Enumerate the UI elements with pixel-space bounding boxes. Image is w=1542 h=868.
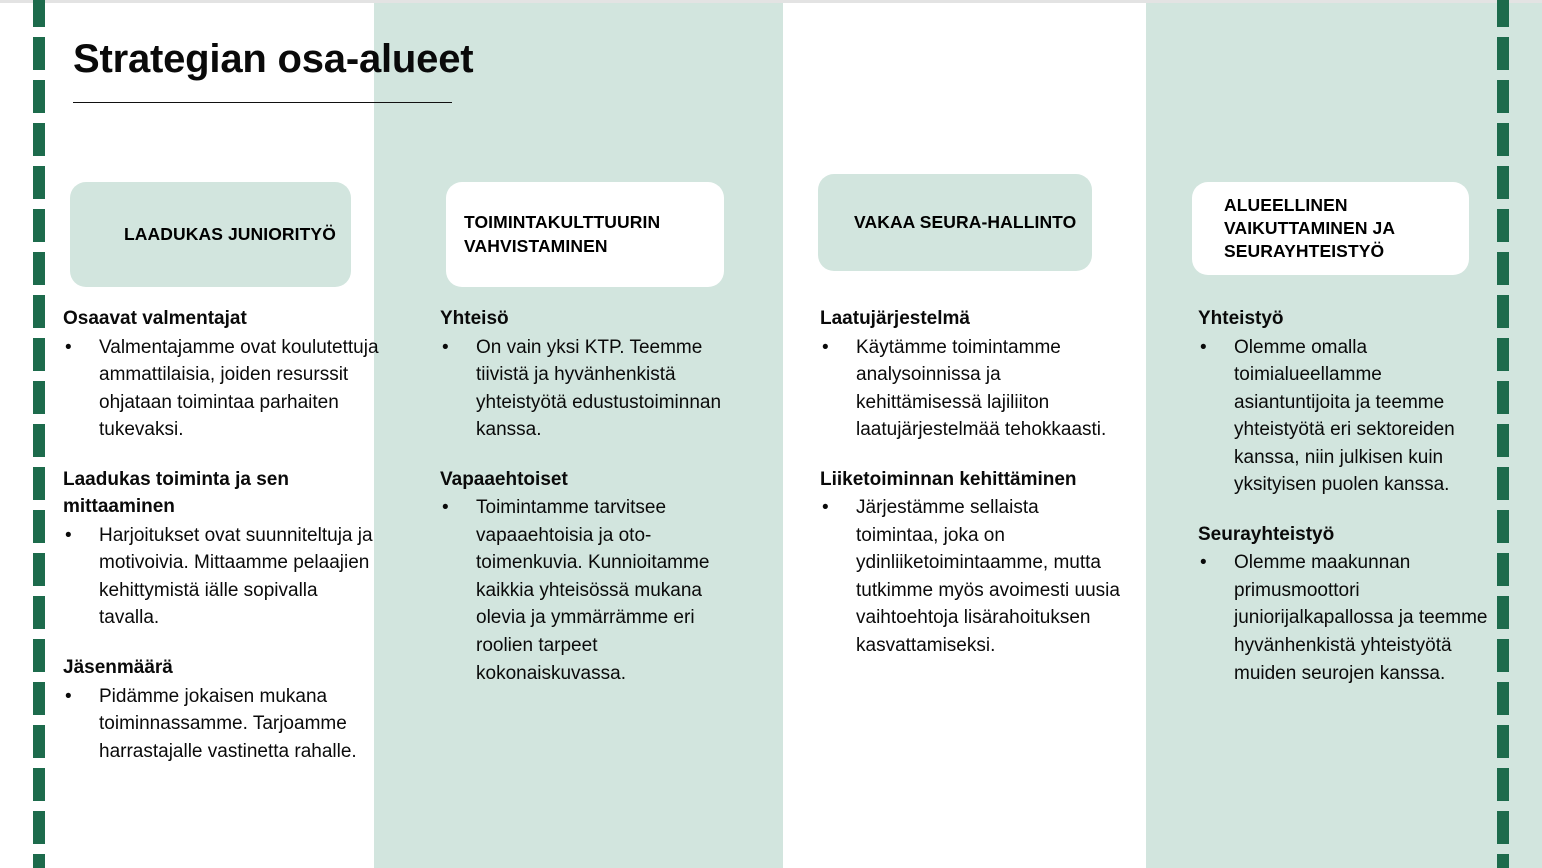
topic-heading: Laatujärjestelmä [820, 305, 1120, 333]
topic-group: Osaavat valmentajat • Valmentajamme ovat… [63, 305, 383, 444]
bullet-text: On vain yksi KTP. Teemme tiivistä ja hyv… [476, 334, 730, 444]
bullet-text: Olemme maakunnan primusmoottori juniorij… [1234, 549, 1488, 687]
pillar-pill-3-label: VAKAA SEURA-HALLINTO [854, 211, 1076, 234]
pillar-pill-1-label: LAADUKAS JUNIORITYÖ [124, 223, 336, 246]
dashed-rail-right-icon [1497, 0, 1509, 868]
pillar-pill-1: LAADUKAS JUNIORITYÖ [70, 182, 351, 287]
topic-group: Yhteisö • On vain yksi KTP. Teemme tiivi… [440, 305, 730, 444]
bullet-dot-icon: • [440, 334, 476, 362]
bullet-dot-icon: • [820, 494, 856, 522]
bullet-text: Toimintamme tarvitsee vapaaehtoisia ja o… [476, 494, 730, 687]
list-item: • Olemme maakunnan primusmoottori junior… [1198, 549, 1488, 687]
bullet-dot-icon: • [63, 334, 99, 362]
bullet-text: Valmentajamme ovat koulutettuja ammattil… [99, 334, 383, 444]
pillar-body-4: Yhteistyö • Olemme omalla toimialueellam… [1198, 305, 1488, 687]
topic-heading: Liiketoiminnan kehittäminen [820, 466, 1120, 494]
pillar-pill-3: VAKAA SEURA-HALLINTO [818, 174, 1092, 271]
list-item: • Toimintamme tarvitsee vapaaehtoisia ja… [440, 494, 730, 687]
topic-group: Laatujärjestelmä • Käytämme toimintamme … [820, 305, 1120, 444]
bullet-dot-icon: • [1198, 549, 1234, 577]
topic-heading: Jäsenmäärä [63, 654, 383, 682]
topic-heading: Yhteistyö [1198, 305, 1488, 333]
topic-group: Yhteistyö • Olemme omalla toimialueellam… [1198, 305, 1488, 499]
bullet-text: Käytämme toimintamme analysoinnissa ja k… [856, 334, 1120, 444]
bullet-text: Harjoitukset ovat suunniteltuja ja motiv… [99, 522, 383, 632]
pillar-body-3: Laatujärjestelmä • Käytämme toimintamme … [820, 305, 1120, 660]
topic-group: Seurayhteistyö • Olemme maakunnan primus… [1198, 521, 1488, 687]
pillar-pill-2: TOIMINTAKULTTUURIN VAHVISTAMINEN [446, 182, 724, 287]
topic-group: Vapaaehtoiset • Toimintamme tarvitsee va… [440, 466, 730, 687]
title-block: Strategian osa-alueet [73, 38, 693, 103]
list-item: • Olemme omalla toimialueellamme asiantu… [1198, 334, 1488, 499]
bullet-dot-icon: • [63, 683, 99, 711]
topic-group: Jäsenmäärä • Pidämme jokaisen mukana toi… [63, 654, 383, 765]
topic-group: Laadukas toiminta ja sen mittaaminen • H… [63, 466, 383, 632]
list-item: • Harjoitukset ovat suunniteltuja ja mot… [63, 522, 383, 632]
list-item: • Järjestämme sellaista toimintaa, joka … [820, 494, 1120, 659]
topic-group: Liiketoiminnan kehittäminen • Järjestämm… [820, 466, 1120, 660]
top-hairline [0, 0, 1542, 3]
pillar-pill-2-label: TOIMINTAKULTTUURIN VAHVISTAMINEN [464, 211, 712, 258]
bullet-dot-icon: • [820, 334, 856, 362]
dashed-rail-left-icon [33, 0, 45, 868]
slide-canvas: Strategian osa-alueet LAADUKAS JUNIORITY… [0, 0, 1542, 868]
bullet-dot-icon: • [63, 522, 99, 550]
bullet-dot-icon: • [440, 494, 476, 522]
bullet-text: Järjestämme sellaista toimintaa, joka on… [856, 494, 1120, 659]
bullet-text: Pidämme jokaisen mukana toiminnassamme. … [99, 683, 383, 766]
topic-heading: Yhteisö [440, 305, 730, 333]
topic-heading: Seurayhteistyö [1198, 521, 1488, 549]
list-item: • On vain yksi KTP. Teemme tiivistä ja h… [440, 334, 730, 444]
bullet-text: Olemme omalla toimialueellamme asiantunt… [1234, 334, 1488, 499]
list-item: • Pidämme jokaisen mukana toiminnassamme… [63, 683, 383, 766]
topic-heading: Vapaaehtoiset [440, 466, 730, 494]
title-underline [73, 102, 452, 103]
list-item: • Käytämme toimintamme analysoinnissa ja… [820, 334, 1120, 444]
bullet-dot-icon: • [1198, 334, 1234, 362]
topic-heading: Laadukas toiminta ja sen mittaaminen [63, 466, 383, 521]
pillar-pill-4-label: ALUEELLINEN VAIKUTTAMINEN JA SEURAYHTEIS… [1224, 194, 1457, 264]
pillar-body-1: Osaavat valmentajat • Valmentajamme ovat… [63, 305, 383, 765]
pillar-body-2: Yhteisö • On vain yksi KTP. Teemme tiivi… [440, 305, 730, 687]
topic-heading: Osaavat valmentajat [63, 305, 383, 333]
pillar-pill-4: ALUEELLINEN VAIKUTTAMINEN JA SEURAYHTEIS… [1192, 182, 1469, 275]
page-title: Strategian osa-alueet [73, 38, 693, 80]
list-item: • Valmentajamme ovat koulutettuja ammatt… [63, 334, 383, 444]
